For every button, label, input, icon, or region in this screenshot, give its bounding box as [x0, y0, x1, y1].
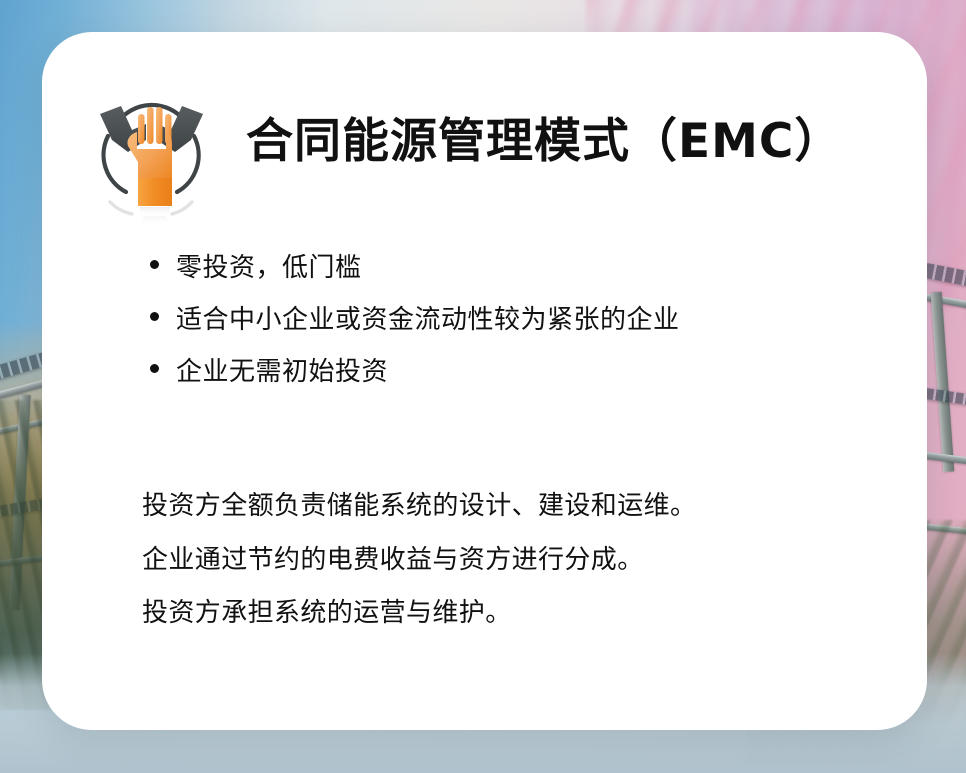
hands-in-circle-icon — [84, 74, 226, 224]
content-card: 合同能源管理模式（EMC） 零投资，低门槛 适合中小企业或资金流动性较为紧张的企… — [42, 32, 927, 730]
feature-bullet-list: 零投资，低门槛 适合中小企业或资金流动性较为紧张的企业 企业无需初始投资 — [150, 254, 890, 410]
paragraph-line: 投资方全额负责储能系统的设计、建设和运维。 — [142, 492, 882, 521]
bullet-dot-icon — [150, 260, 159, 269]
list-item-label: 企业无需初始投资 — [176, 358, 388, 388]
description-paragraphs: 投资方全额负责储能系统的设计、建设和运维。 企业通过节约的电费收益与资方进行分成… — [142, 492, 882, 628]
card-header: 合同能源管理模式（EMC） — [84, 74, 842, 224]
list-item: 零投资，低门槛 — [150, 254, 890, 284]
paragraph-line: 企业通过节约的电费收益与资方进行分成。 — [142, 546, 882, 575]
list-item: 适合中小企业或资金流动性较为紧张的企业 — [150, 306, 890, 336]
bullet-dot-icon — [150, 364, 159, 373]
page-title: 合同能源管理模式（EMC） — [246, 118, 842, 165]
list-item-label: 零投资，低门槛 — [176, 254, 362, 284]
paragraph-line: 投资方承担系统的运营与维护。 — [142, 599, 882, 628]
list-item: 企业无需初始投资 — [150, 358, 890, 388]
bullet-dot-icon — [150, 312, 159, 321]
list-item-label: 适合中小企业或资金流动性较为紧张的企业 — [176, 306, 680, 336]
